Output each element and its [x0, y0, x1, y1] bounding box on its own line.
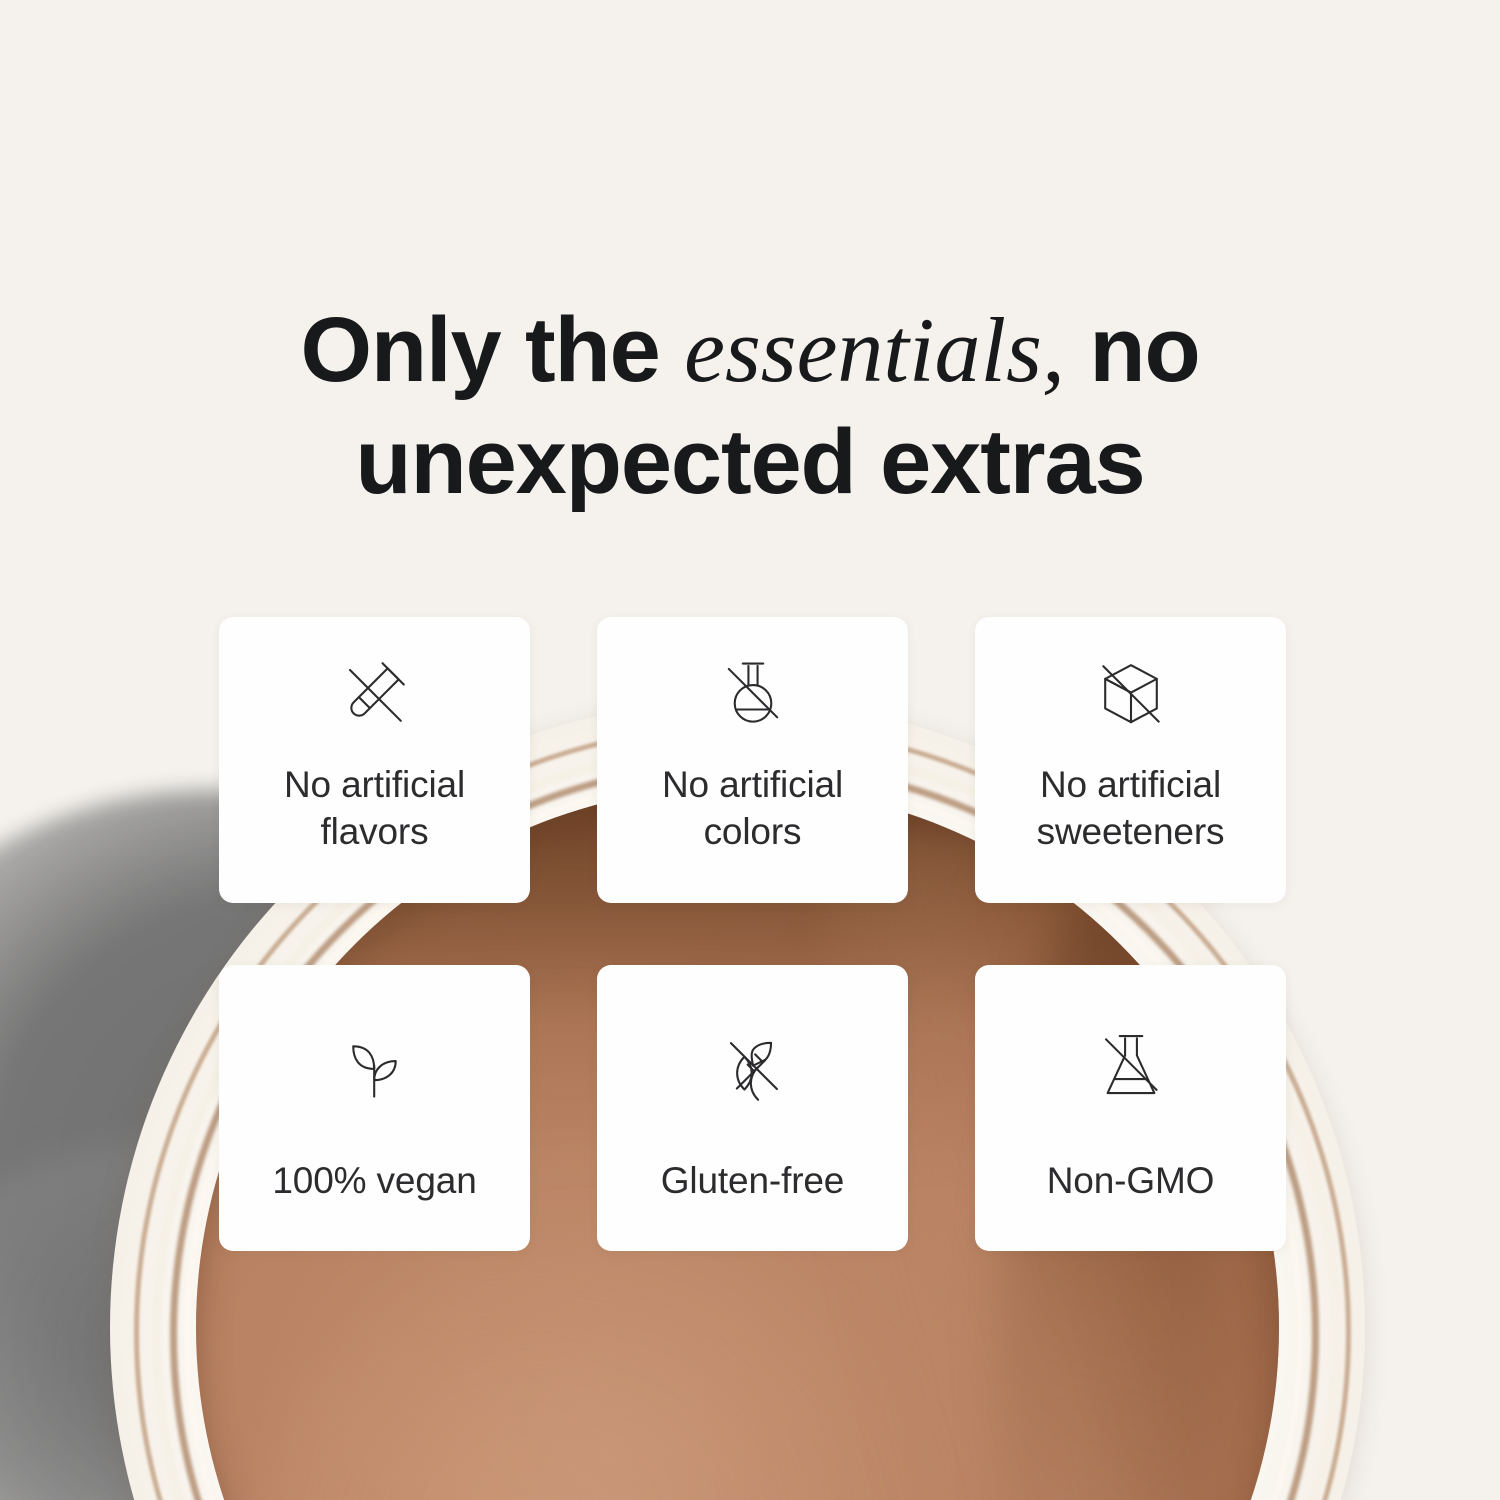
no-artificial-colors-flask-slash-icon: [699, 641, 807, 749]
badge-label: No artificialcolors: [646, 761, 859, 856]
badge-card-vegan: 100% vegan: [219, 965, 530, 1251]
badge-card-non-gmo: Non-GMO: [975, 965, 1286, 1251]
gluten-free-wheat-slash-icon: [699, 1013, 807, 1121]
no-artificial-flavors-test-tube-slash-icon: [321, 641, 429, 749]
badge-label: Non-GMO: [1031, 1157, 1231, 1204]
badge-label-line-1: No artificial: [662, 764, 843, 805]
badge-card-no-artificial-colors: No artificialcolors: [597, 617, 908, 903]
badge-label-line-1: Non-GMO: [1047, 1160, 1215, 1201]
badge-label: Gluten-free: [645, 1157, 860, 1204]
badge-label: 100% vegan: [256, 1157, 492, 1204]
page-title: Only the essentials, no unexpected extra…: [0, 294, 1500, 518]
headline-emphasis: essentials,: [684, 299, 1065, 401]
badge-label: No artificialflavors: [268, 761, 481, 856]
vegan-sprout-icon: [321, 1013, 429, 1121]
badge-label-line-1: No artificial: [1040, 764, 1221, 805]
headline-part-1: Only the: [300, 299, 684, 401]
badge-label-line-1: 100% vegan: [272, 1160, 476, 1201]
badge-card-gluten-free: Gluten-free: [597, 965, 908, 1251]
badge-label-line-1: Gluten-free: [661, 1160, 844, 1201]
badge-label-line-2: flavors: [321, 811, 429, 852]
benefit-badge-grid: No artificialflavors No a: [219, 617, 1287, 1251]
badge-card-no-artificial-flavors: No artificialflavors: [219, 617, 530, 903]
badge-card-no-artificial-sweeteners: No artificialsweeteners: [975, 617, 1286, 903]
badge-label-line-1: No artificial: [284, 764, 465, 805]
badge-label: No artificialsweeteners: [1021, 761, 1241, 856]
non-gmo-erlenmeyer-flask-slash-icon: [1077, 1013, 1185, 1121]
badge-label-line-2: sweeteners: [1037, 811, 1225, 852]
badge-label-line-2: colors: [704, 811, 802, 852]
no-artificial-sweeteners-sugar-cube-slash-icon: [1077, 641, 1185, 749]
product-benefits-graphic: Only the essentials, no unexpected extra…: [0, 0, 1500, 1500]
